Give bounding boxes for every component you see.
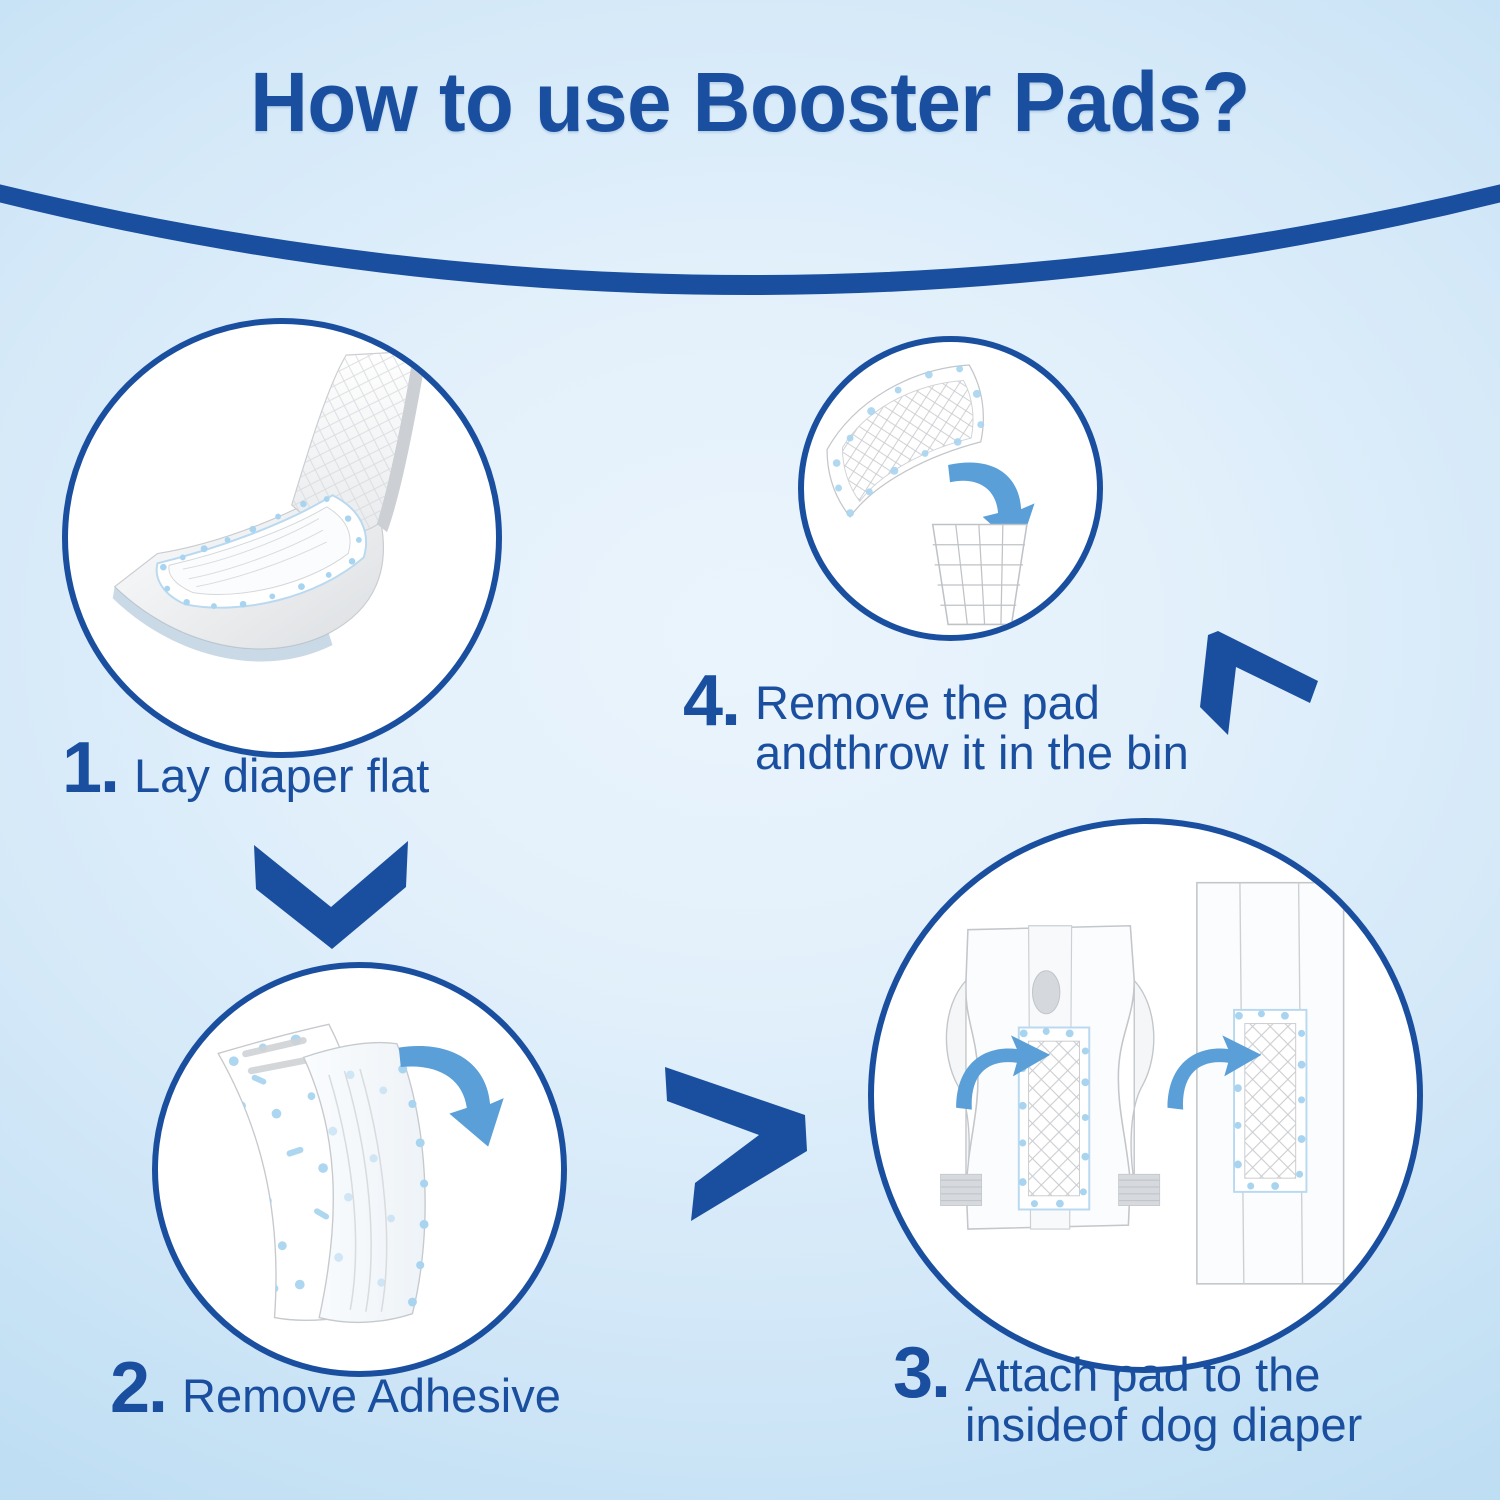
step-2-caption: 2. Remove Adhesive [110, 1355, 561, 1421]
step-1-illustration-circle [62, 318, 502, 758]
step-3-illustration-circle [868, 818, 1423, 1373]
title-area: How to use Booster Pads? [0, 58, 1500, 146]
page-title: How to use Booster Pads? [38, 58, 1463, 146]
step-2-label: Remove Adhesive [182, 1355, 561, 1421]
step-4-illustration-circle [798, 336, 1103, 641]
step-1-caption: 1. Lay diaper flat [62, 735, 429, 801]
header-arc-decoration [0, 178, 1500, 328]
step-2-illustration-circle [152, 962, 567, 1377]
step-4-caption: 4. Remove the pad andthrow it in the bin [683, 668, 1189, 778]
step-4-number: 4. [683, 668, 739, 734]
step-4-label: Remove the pad andthrow it in the bin [755, 668, 1189, 778]
infographic-poster: How to use Booster Pads? [0, 0, 1500, 1500]
chevron-right-icon [655, 1055, 815, 1230]
step-3-number: 3. [893, 1340, 949, 1406]
chevron-down-icon [246, 835, 416, 955]
chevron-up-icon [1178, 615, 1328, 745]
step-3-caption: 3. Attach pad to the insideof dog diaper [893, 1340, 1362, 1450]
step-1-label: Lay diaper flat [134, 735, 429, 801]
step-3-label: Attach pad to the insideof dog diaper [965, 1340, 1362, 1450]
step-2-number: 2. [110, 1355, 166, 1421]
step-1-number: 1. [62, 735, 118, 801]
